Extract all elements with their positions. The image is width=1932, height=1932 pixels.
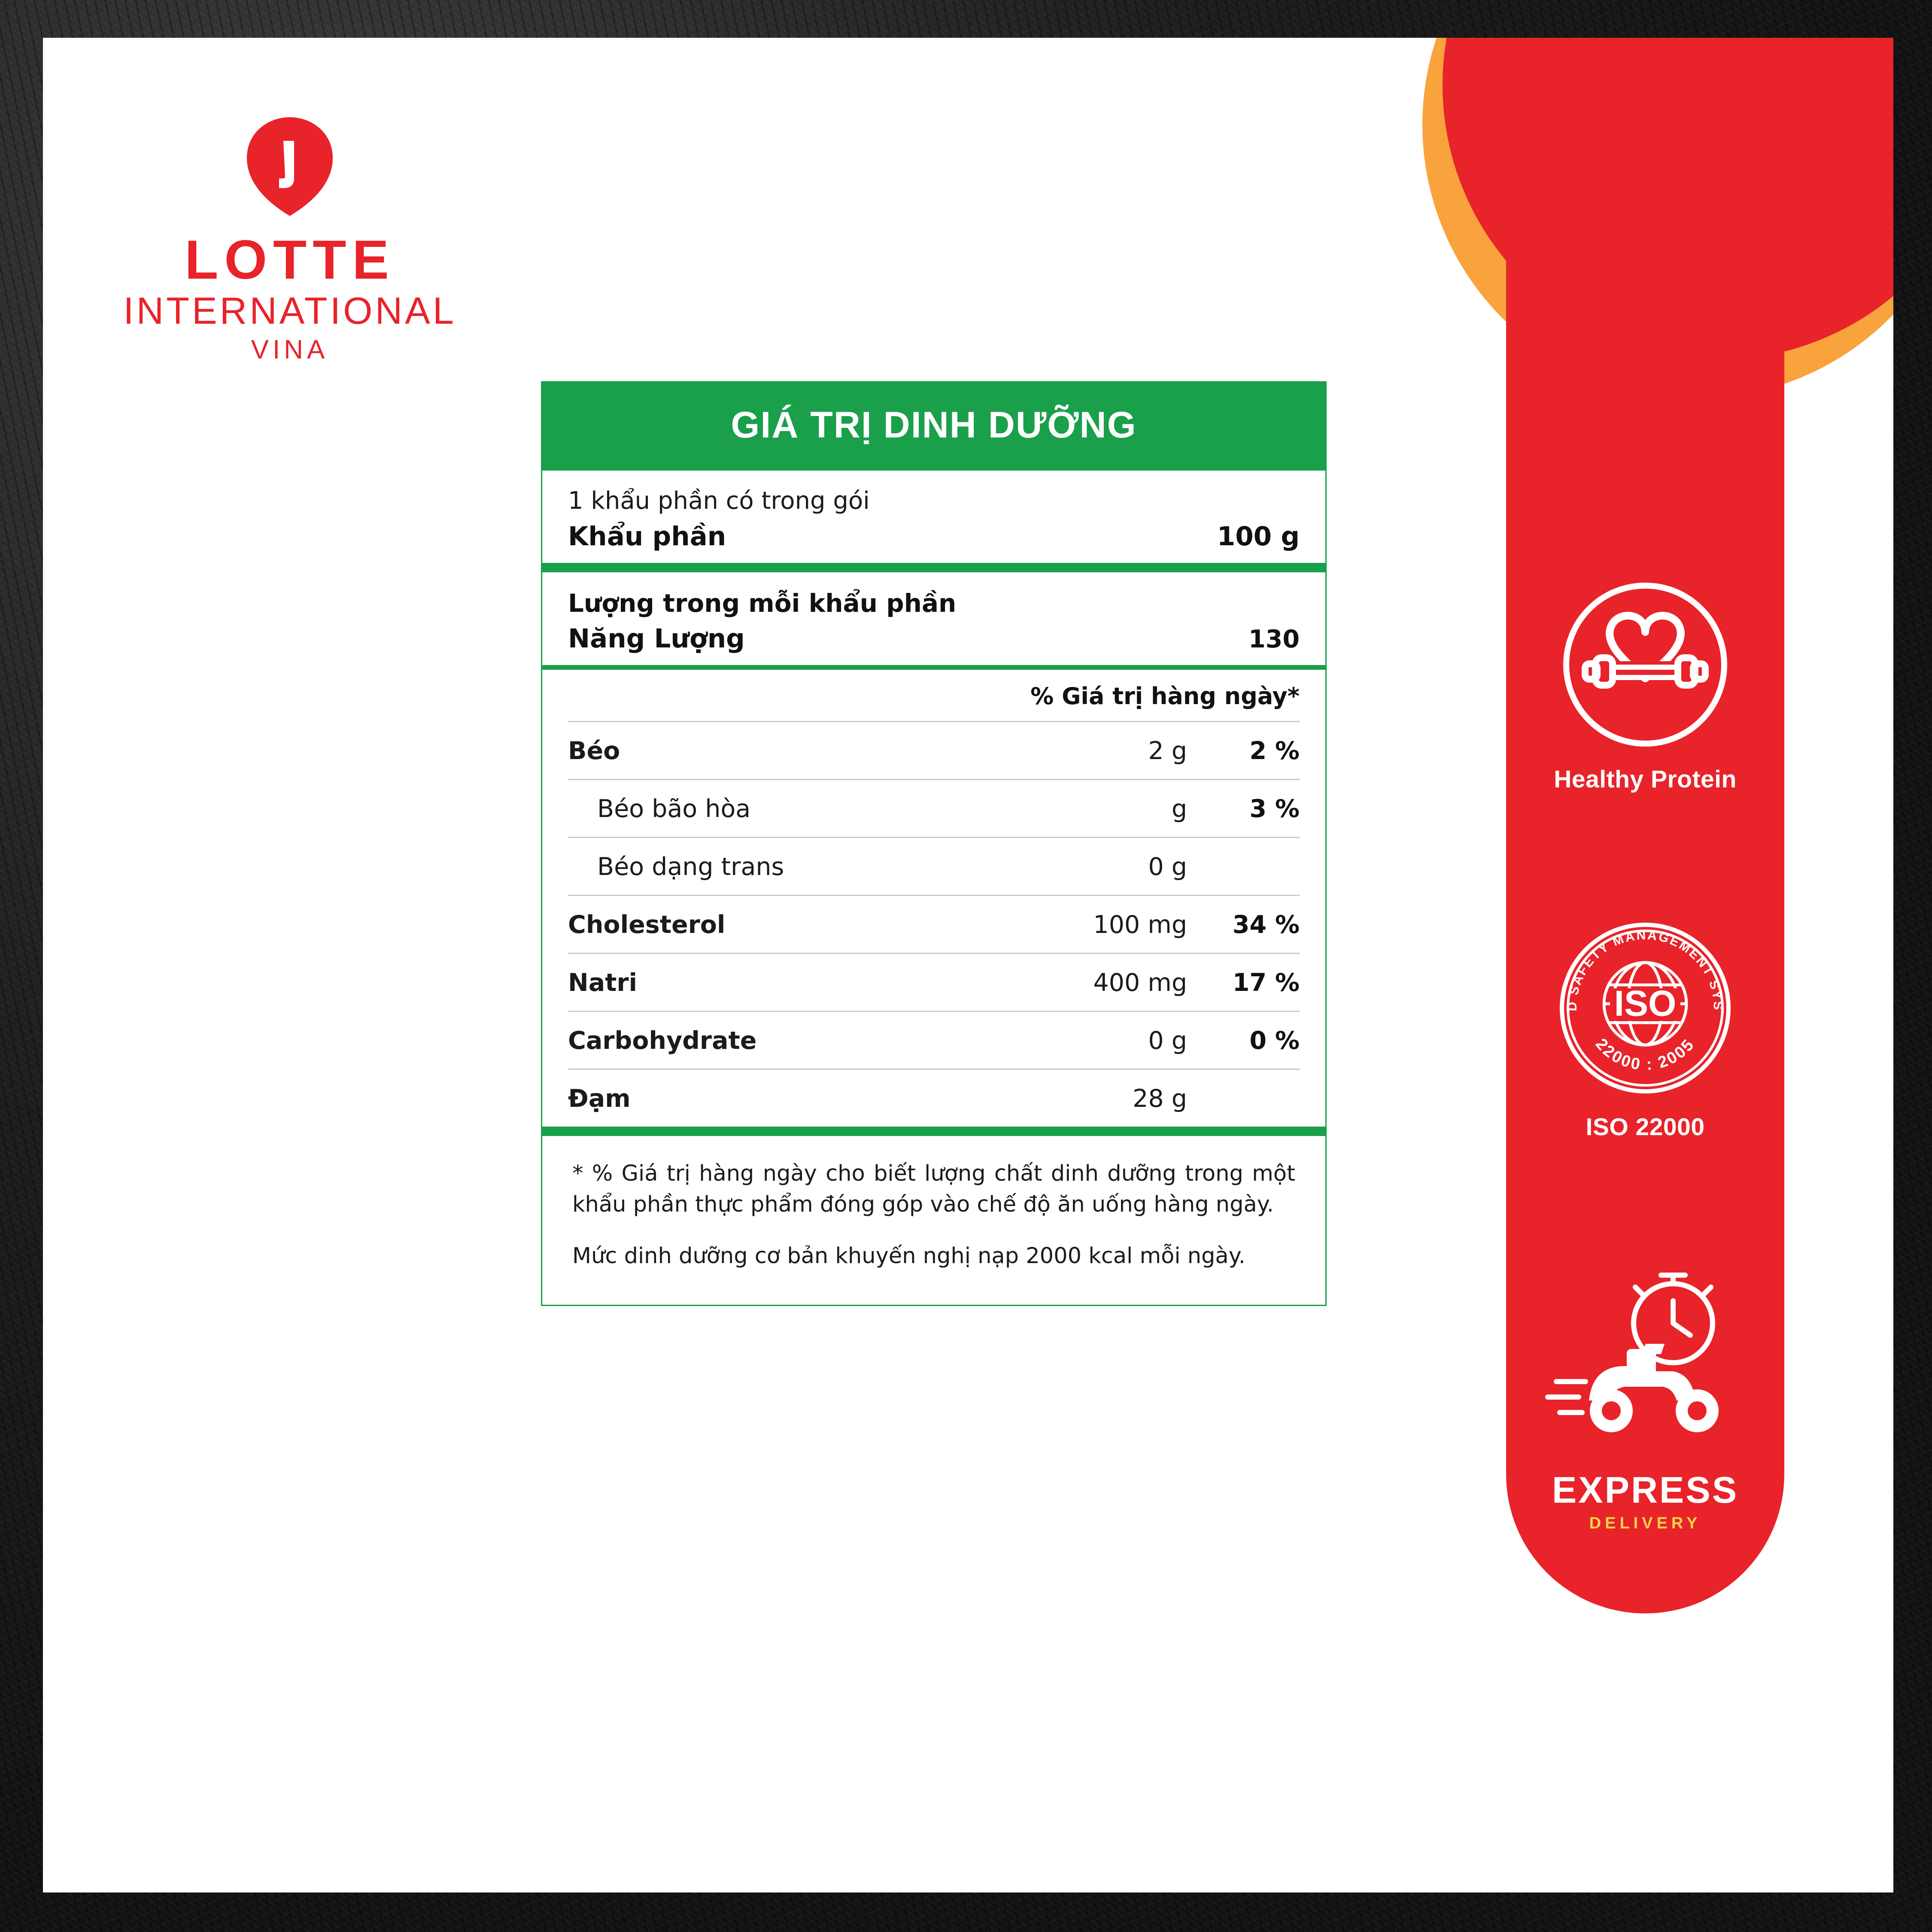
nutrient-name: Natri [568, 969, 1033, 997]
nutrient-row: Carbohydrate 0 g 0 % [542, 1012, 1325, 1069]
serving-size-value: 100 g [1217, 521, 1300, 552]
nutrient-name: Béo [568, 737, 1033, 765]
nutrient-amount: 400 mg [1033, 969, 1214, 997]
divider-green-thin-1 [542, 665, 1325, 670]
nutrient-row: Béo dạng trans 0 g [542, 838, 1325, 895]
nutrient-amount: 100 mg [1033, 911, 1214, 939]
footnote-daily-value: * % Giá trị hàng ngày cho biết lượng chấ… [572, 1158, 1295, 1221]
nutrient-amount: 0 g [1033, 1027, 1214, 1055]
nutrient-percent: 17 % [1214, 969, 1300, 997]
daily-value-header: % Giá trị hàng ngày* [542, 670, 1325, 721]
divider-green-thick-1 [542, 563, 1325, 572]
calories-label: Năng Lượng [568, 623, 745, 654]
nutrient-amount: 28 g [1033, 1084, 1214, 1113]
calories-block: Lượng trong mỗi khẩu phần Năng Lượng 130 [542, 572, 1325, 665]
brand-region: VINA [122, 333, 457, 368]
nutrient-percent: 34 % [1214, 911, 1300, 939]
serving-block: 1 khẩu phần có trong gói Khẩu phần 100 g [542, 471, 1325, 563]
brand-subtitle: INTERNATIONAL [122, 289, 457, 333]
nutrient-row: Béo 2 g 2 % [542, 722, 1325, 779]
nutrient-name: Béo bão hòa [568, 795, 1033, 823]
badge-sublabel-delivery: DELIVERY [1506, 1514, 1784, 1533]
badge-strip: Healthy Protein FOOD SAFETY MANAGEMENT S… [1506, 76, 1784, 1613]
white-card: Healthy Protein FOOD SAFETY MANAGEMENT S… [43, 38, 1893, 1893]
nutrient-amount: 2 g [1033, 737, 1214, 765]
footnotes: * % Giá trị hàng ngày cho biết lượng chấ… [542, 1136, 1325, 1305]
badge-healthy-protein: Healthy Protein [1506, 579, 1784, 793]
nutrient-percent: 2 % [1214, 737, 1300, 765]
iso-globe-seal-icon: FOOD SAFETY MANAGEMENT SYSYEM 22000 : 20… [1555, 918, 1735, 1098]
footnote-calorie-basis: Mức dinh dưỡng cơ bản khuyến nghị nạp 20… [572, 1241, 1295, 1272]
nutrient-row: Béo bão hòa g 3 % [542, 780, 1325, 837]
page-background: Healthy Protein FOOD SAFETY MANAGEMENT S… [0, 0, 1932, 1932]
svg-text:ISO: ISO [1614, 983, 1677, 1024]
nutrient-row: Natri 400 mg 17 % [542, 954, 1325, 1011]
nutrient-row: Cholesterol 100 mg 34 % [542, 896, 1325, 953]
nutrient-name: Béo dạng trans [568, 853, 1033, 881]
scooter-stopwatch-icon [1544, 1270, 1746, 1455]
badge-label-iso: ISO 22000 [1506, 1113, 1784, 1141]
heart-dumbbell-icon [1559, 579, 1731, 750]
servings-per-container: 1 khẩu phần có trong gói [568, 486, 1300, 516]
amount-per-serving-label: Lượng trong mỗi khẩu phần [568, 588, 1300, 619]
nutrient-percent: 3 % [1214, 795, 1300, 823]
svg-text:22000 : 2005: 22000 : 2005 [1592, 1035, 1698, 1074]
nutrient-row: Đạm 28 g [542, 1070, 1325, 1127]
nutrient-name: Đạm [568, 1084, 1033, 1113]
divider-green-thick-2 [542, 1127, 1325, 1136]
badge-label-healthy-protein: Healthy Protein [1506, 765, 1784, 793]
nutrient-amount: 0 g [1033, 853, 1214, 881]
brand-logo: LOTTE INTERNATIONAL VINA [122, 113, 457, 368]
nutrient-percent: 0 % [1214, 1027, 1300, 1055]
nutrient-name: Carbohydrate [568, 1027, 1033, 1055]
serving-size-label: Khẩu phần [568, 521, 726, 552]
nutrient-name: Cholesterol [568, 911, 1033, 939]
nutrient-amount: g [1033, 795, 1214, 823]
badge-express-delivery: EXPRESS DELIVERY [1506, 1270, 1784, 1533]
nutrition-title: GIÁ TRỊ DINH DƯỠNG [542, 383, 1325, 471]
brand-name: LOTTE [122, 232, 457, 289]
lotte-droplet-logo-icon [236, 113, 343, 220]
calories-value: 130 [1249, 625, 1300, 653]
badge-label-express: EXPRESS [1506, 1469, 1784, 1512]
nutrition-facts-panel: GIÁ TRỊ DINH DƯỠNG 1 khẩu phần có trong … [541, 381, 1327, 1306]
badge-iso: FOOD SAFETY MANAGEMENT SYSYEM 22000 : 20… [1506, 918, 1784, 1141]
